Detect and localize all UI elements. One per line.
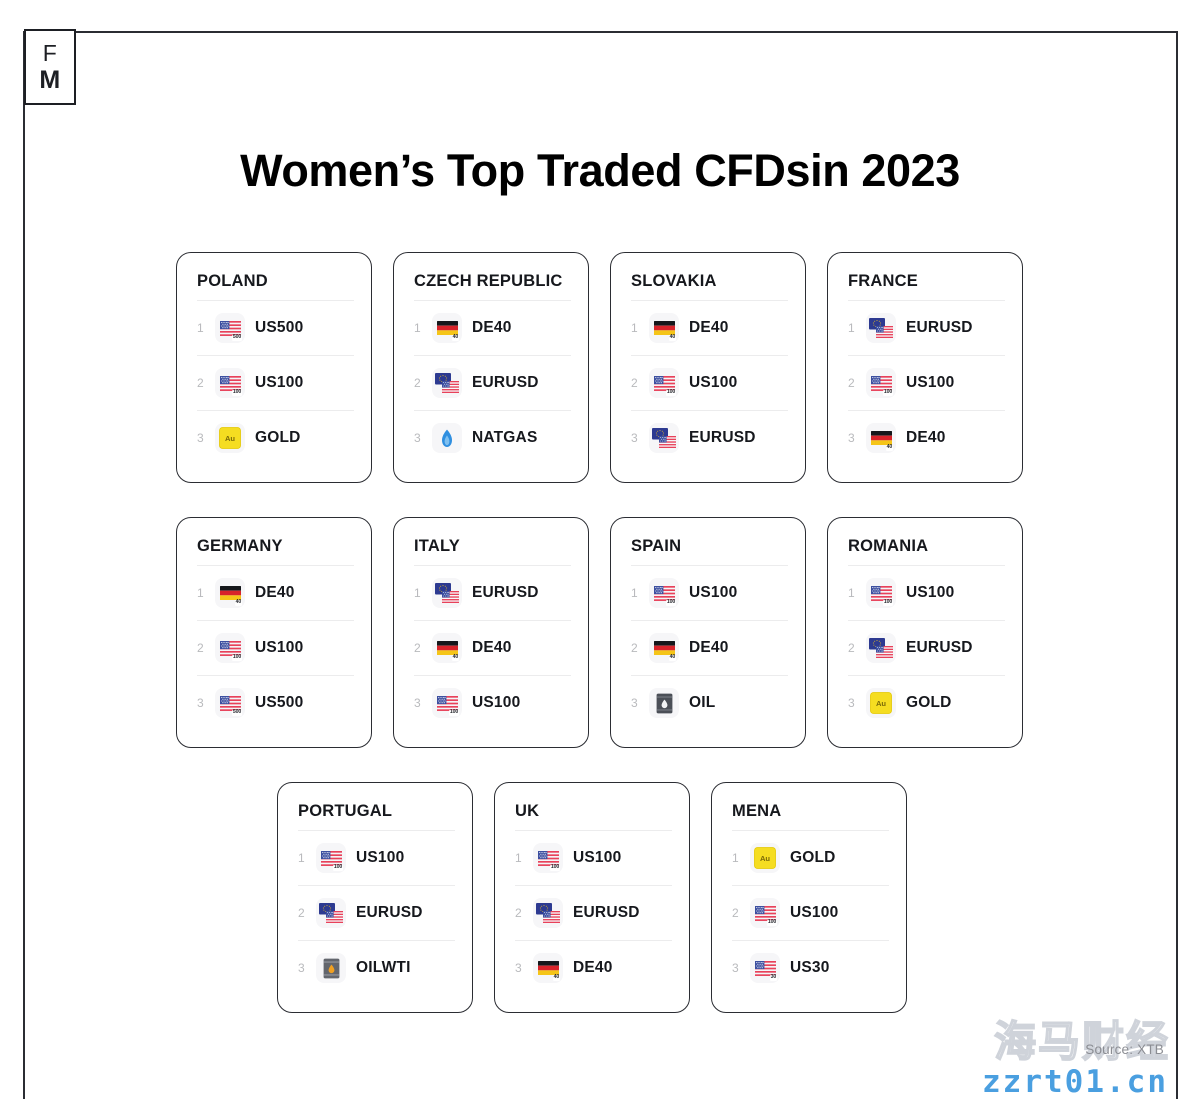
instrument-symbol-label: GOLD: [906, 694, 952, 712]
gold-au-icon: Au: [866, 688, 896, 718]
instrument-symbol-label: NATGAS: [472, 429, 538, 447]
eu-us-flags-icon: [866, 313, 896, 343]
us-flag-icon: 100: [866, 368, 896, 398]
index-number-badge: 40: [669, 655, 676, 661]
us-flag-icon: 100: [215, 633, 245, 663]
instrument-symbol-label: EURUSD: [689, 429, 756, 447]
ranking-list: 140DE402EURUSD3NATGAS: [414, 300, 571, 465]
instrument-symbol-label: US100: [472, 694, 520, 712]
ranking-list-item: 3100US100: [414, 675, 571, 730]
ranking-list-item: 3OIL: [631, 675, 788, 730]
rank-number: 1: [732, 851, 750, 865]
eu-us-flags-icon: [533, 898, 563, 928]
country-card: POLAND1500US5002100US1003AuGOLD: [176, 252, 372, 483]
country-card-title: POLAND: [197, 272, 354, 291]
rank-number: 1: [414, 321, 432, 335]
gold-au-icon: Au: [215, 423, 245, 453]
instrument-symbol-label: EURUSD: [573, 904, 640, 922]
instrument-symbol-label: DE40: [573, 959, 613, 977]
index-number-badge: 40: [886, 445, 893, 451]
ranking-list: 1100US1002EURUSD3AuGOLD: [848, 565, 1005, 730]
us-flag-icon: 100: [866, 578, 896, 608]
ranking-list-item: 3NATGAS: [414, 410, 571, 465]
eu-us-flags-icon: [432, 578, 462, 608]
germany-flag-icon: 40: [649, 313, 679, 343]
card-row-1: POLAND1500US5002100US1003AuGOLDCZECH REP…: [176, 252, 1023, 483]
instrument-symbol-label: US100: [356, 849, 404, 867]
ranking-list-item: 1EURUSD: [414, 565, 571, 620]
index-number-badge: 100: [232, 390, 242, 396]
oil-wti-barrel-icon: [316, 953, 346, 983]
country-card: UK1100US1002EURUSD340DE40: [494, 782, 690, 1013]
rank-number: 3: [298, 961, 316, 975]
rank-number: 3: [197, 696, 215, 710]
germany-flag-icon: 40: [649, 633, 679, 663]
index-number-badge: 100: [666, 600, 676, 606]
instrument-symbol-label: US100: [906, 374, 954, 392]
us-flag-icon: 500: [215, 313, 245, 343]
instrument-symbol-label: US100: [689, 584, 737, 602]
us-flag-icon: 100: [533, 843, 563, 873]
infographic-page: F M Women’s Top Traded CFDsin 2023 POLAN…: [0, 0, 1200, 1099]
instrument-symbol-label: GOLD: [255, 429, 301, 447]
ranking-list: 1EURUSD2100US100340DE40: [848, 300, 1005, 465]
rank-number: 3: [848, 696, 866, 710]
ranking-list-item: 2EURUSD: [515, 885, 672, 940]
ranking-list: 140DE402100US1003EURUSD: [631, 300, 788, 465]
instrument-symbol-label: US100: [906, 584, 954, 602]
us-flag-icon: 100: [649, 578, 679, 608]
ranking-list-item: 2100US100: [631, 355, 788, 410]
index-number-badge: 100: [550, 865, 560, 871]
instrument-symbol-label: OILWTI: [356, 959, 411, 977]
germany-flag-icon: 40: [533, 953, 563, 983]
instrument-symbol-label: DE40: [472, 319, 512, 337]
ranking-list: 1100US1002EURUSD340DE40: [515, 830, 672, 995]
rank-number: 3: [631, 696, 649, 710]
svg-text:Au: Au: [225, 434, 235, 443]
gold-au-icon: Au: [750, 843, 780, 873]
germany-flag-icon: 40: [432, 313, 462, 343]
ranking-list-item: 1500US500: [197, 300, 354, 355]
rank-number: 1: [631, 586, 649, 600]
instrument-symbol-label: EURUSD: [906, 319, 973, 337]
instrument-symbol-label: GOLD: [790, 849, 836, 867]
rank-number: 2: [732, 906, 750, 920]
index-number-badge: 500: [232, 335, 242, 341]
us-flag-icon: 100: [750, 898, 780, 928]
country-card: ROMANIA1100US1002EURUSD3AuGOLD: [827, 517, 1023, 748]
country-card: MENA1AuGOLD2100US100330US30: [711, 782, 907, 1013]
index-number-badge: 100: [333, 865, 343, 871]
ranking-list-item: 340DE40: [848, 410, 1005, 465]
instrument-symbol-label: US500: [255, 319, 303, 337]
index-number-badge: 40: [452, 655, 459, 661]
ranking-list-item: 3EURUSD: [631, 410, 788, 465]
rank-number: 2: [414, 376, 432, 390]
ranking-list-item: 2100US100: [197, 620, 354, 675]
fm-logo-line-1: F: [43, 42, 58, 65]
germany-flag-icon: 40: [215, 578, 245, 608]
country-card-title: FRANCE: [848, 272, 1005, 291]
ranking-list-item: 1100US100: [515, 830, 672, 885]
rank-number: 1: [197, 321, 215, 335]
instrument-symbol-label: US100: [790, 904, 838, 922]
instrument-symbol-label: DE40: [689, 319, 729, 337]
country-card-title: SLOVAKIA: [631, 272, 788, 291]
instrument-symbol-label: US100: [573, 849, 621, 867]
rank-number: 1: [848, 586, 866, 600]
country-card: PORTUGAL1100US1002EURUSD3OILWTI: [277, 782, 473, 1013]
country-card: ITALY1EURUSD240DE403100US100: [393, 517, 589, 748]
fm-logo-line-2: M: [39, 68, 60, 93]
ranking-list: 1EURUSD240DE403100US100: [414, 565, 571, 730]
ranking-list-item: 2100US100: [732, 885, 889, 940]
country-card-title: CZECH REPUBLIC: [414, 272, 571, 291]
instrument-symbol-label: EURUSD: [356, 904, 423, 922]
page-title: Women’s Top Traded CFDsin 2023: [0, 145, 1200, 197]
ranking-list-item: 140DE40: [414, 300, 571, 355]
ranking-list-item: 1AuGOLD: [732, 830, 889, 885]
rank-number: 3: [197, 431, 215, 445]
index-number-badge: 100: [883, 390, 893, 396]
rank-number: 2: [631, 376, 649, 390]
rank-number: 2: [414, 641, 432, 655]
rank-number: 3: [732, 961, 750, 975]
rank-number: 1: [515, 851, 533, 865]
rank-number: 2: [197, 376, 215, 390]
rank-number: 2: [197, 641, 215, 655]
rank-number: 2: [515, 906, 533, 920]
card-row-3: PORTUGAL1100US1002EURUSD3OILWTIUK1100US1…: [277, 782, 907, 1013]
country-card: CZECH REPUBLIC140DE402EURUSD3NATGAS: [393, 252, 589, 483]
ranking-list-item: 3AuGOLD: [848, 675, 1005, 730]
country-card-title: PORTUGAL: [298, 802, 455, 821]
index-number-badge: 100: [666, 390, 676, 396]
card-row-2: GERMANY140DE402100US1003500US500ITALY1EU…: [176, 517, 1023, 748]
watermark-chinese: 海马财经: [994, 1008, 1170, 1069]
ranking-list-item: 2EURUSD: [848, 620, 1005, 675]
ranking-list: 140DE402100US1003500US500: [197, 565, 354, 730]
eu-us-flags-icon: [649, 423, 679, 453]
germany-flag-icon: 40: [866, 423, 896, 453]
instrument-symbol-label: US100: [689, 374, 737, 392]
instrument-symbol-label: DE40: [472, 639, 512, 657]
ranking-list-item: 2100US100: [197, 355, 354, 410]
instrument-symbol-label: EURUSD: [906, 639, 973, 657]
ranking-list-item: 1100US100: [848, 565, 1005, 620]
rank-number: 1: [631, 321, 649, 335]
country-card-title: ITALY: [414, 537, 571, 556]
rank-number: 3: [515, 961, 533, 975]
watermark-url: zzrt01.cn: [982, 1064, 1168, 1099]
index-number-badge: 40: [669, 335, 676, 341]
country-card: GERMANY140DE402100US1003500US500: [176, 517, 372, 748]
ranking-list-item: 340DE40: [515, 940, 672, 995]
eu-us-flags-icon: [316, 898, 346, 928]
us-flag-icon: 100: [215, 368, 245, 398]
index-number-badge: 100: [232, 655, 242, 661]
index-number-badge: 40: [452, 335, 459, 341]
ranking-list-item: 330US30: [732, 940, 889, 995]
ranking-list-item: 2EURUSD: [414, 355, 571, 410]
ranking-list-item: 3500US500: [197, 675, 354, 730]
ranking-list-item: 240DE40: [631, 620, 788, 675]
index-number-badge: 30: [770, 975, 777, 981]
index-number-badge: 500: [232, 710, 242, 716]
instrument-symbol-label: DE40: [689, 639, 729, 657]
country-card: FRANCE1EURUSD2100US100340DE40: [827, 252, 1023, 483]
svg-text:Au: Au: [760, 854, 770, 863]
rank-number: 3: [414, 431, 432, 445]
rank-number: 3: [848, 431, 866, 445]
rank-number: 3: [631, 431, 649, 445]
us-flag-icon: 500: [215, 688, 245, 718]
country-card-title: GERMANY: [197, 537, 354, 556]
rank-number: 2: [848, 641, 866, 655]
svg-text:Au: Au: [876, 699, 886, 708]
source-label: Source: XTB: [1085, 1042, 1164, 1057]
germany-flag-icon: 40: [432, 633, 462, 663]
country-card-title: ROMANIA: [848, 537, 1005, 556]
us-flag-icon: 100: [432, 688, 462, 718]
country-card-title: MENA: [732, 802, 889, 821]
index-number-badge: 100: [449, 710, 459, 716]
index-number-badge: 100: [767, 920, 777, 926]
instrument-symbol-label: DE40: [255, 584, 295, 602]
rank-number: 2: [848, 376, 866, 390]
instrument-symbol-label: US30: [790, 959, 830, 977]
instrument-symbol-label: DE40: [906, 429, 946, 447]
ranking-list: 1500US5002100US1003AuGOLD: [197, 300, 354, 465]
fm-logo: F M: [24, 29, 76, 105]
instrument-symbol-label: OIL: [689, 694, 715, 712]
country-card: SPAIN1100US100240DE403OIL: [610, 517, 806, 748]
ranking-list-item: 3AuGOLD: [197, 410, 354, 465]
ranking-list-item: 240DE40: [414, 620, 571, 675]
ranking-list-item: 1100US100: [631, 565, 788, 620]
ranking-list-item: 140DE40: [197, 565, 354, 620]
instrument-symbol-label: EURUSD: [472, 374, 539, 392]
us-flag-icon: 100: [316, 843, 346, 873]
oil-barrel-icon: [649, 688, 679, 718]
rank-number: 2: [298, 906, 316, 920]
rank-number: 1: [197, 586, 215, 600]
ranking-list-item: 2EURUSD: [298, 885, 455, 940]
us-flag-icon: 30: [750, 953, 780, 983]
eu-us-flags-icon: [866, 633, 896, 663]
instrument-symbol-label: US100: [255, 374, 303, 392]
us-flag-icon: 100: [649, 368, 679, 398]
country-card: SLOVAKIA140DE402100US1003EURUSD: [610, 252, 806, 483]
ranking-list-item: 140DE40: [631, 300, 788, 355]
eu-us-flags-icon: [432, 368, 462, 398]
country-card-title: SPAIN: [631, 537, 788, 556]
ranking-list-item: 3OILWTI: [298, 940, 455, 995]
ranking-list: 1AuGOLD2100US100330US30: [732, 830, 889, 995]
index-number-badge: 100: [883, 600, 893, 606]
instrument-symbol-label: US100: [255, 639, 303, 657]
instrument-symbol-label: US500: [255, 694, 303, 712]
ranking-list-item: 1100US100: [298, 830, 455, 885]
ranking-list-item: 2100US100: [848, 355, 1005, 410]
rank-number: 1: [414, 586, 432, 600]
index-number-badge: 40: [553, 975, 560, 981]
country-card-title: UK: [515, 802, 672, 821]
ranking-list: 1100US1002EURUSD3OILWTI: [298, 830, 455, 995]
ranking-list: 1100US100240DE403OIL: [631, 565, 788, 730]
rank-number: 2: [631, 641, 649, 655]
instrument-symbol-label: EURUSD: [472, 584, 539, 602]
rank-number: 1: [848, 321, 866, 335]
index-number-badge: 40: [235, 600, 242, 606]
rank-number: 3: [414, 696, 432, 710]
natgas-flame-icon: [432, 423, 462, 453]
ranking-list-item: 1EURUSD: [848, 300, 1005, 355]
rank-number: 1: [298, 851, 316, 865]
